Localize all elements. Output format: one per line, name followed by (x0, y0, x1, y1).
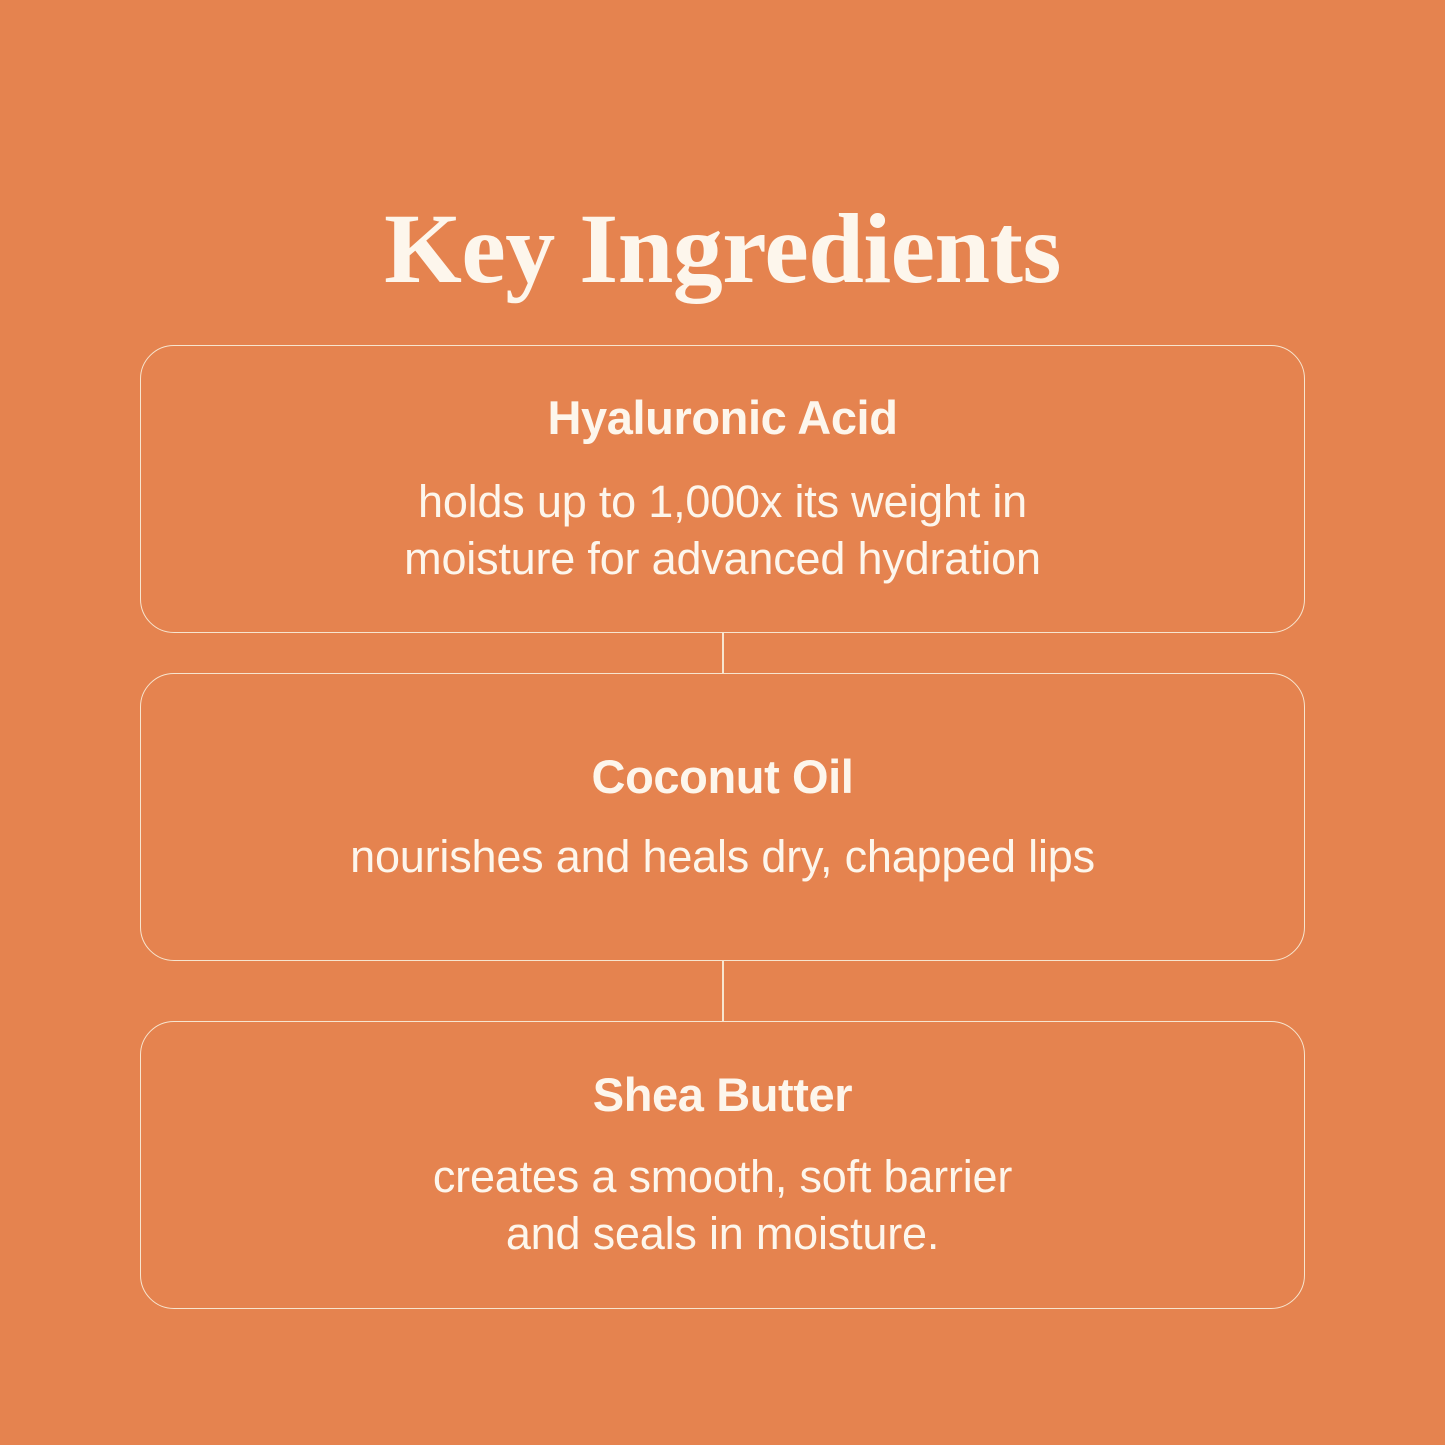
ingredient-description: creates a smooth, soft barrier and seals… (433, 1148, 1012, 1262)
connector-line-1 (140, 633, 1305, 673)
ingredient-card-stack: Hyaluronic Acid holds up to 1,000x its w… (140, 345, 1305, 1309)
key-ingredients-poster: Key Ingredients Hyaluronic Acid holds up… (0, 0, 1445, 1445)
page-title: Key Ingredients (0, 195, 1445, 303)
ingredient-card-hyaluronic-acid: Hyaluronic Acid holds up to 1,000x its w… (140, 345, 1305, 633)
ingredient-name: Hyaluronic Acid (547, 391, 897, 445)
ingredient-name: Shea Butter (593, 1068, 852, 1122)
ingredient-description: holds up to 1,000x its weight in moistur… (404, 473, 1041, 587)
ingredient-description: nourishes and heals dry, chapped lips (350, 828, 1095, 885)
ingredient-card-coconut-oil: Coconut Oil nourishes and heals dry, cha… (140, 673, 1305, 961)
ingredient-card-shea-butter: Shea Butter creates a smooth, soft barri… (140, 1021, 1305, 1309)
connector-line-2 (140, 961, 1305, 1021)
ingredient-name: Coconut Oil (592, 750, 854, 804)
